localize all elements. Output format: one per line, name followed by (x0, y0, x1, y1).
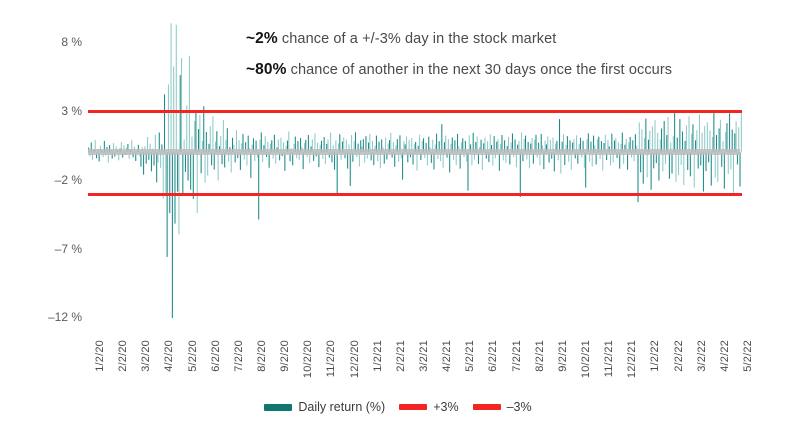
legend-label-upper-threshold: +3% (433, 400, 458, 414)
plot-area (88, 8, 742, 338)
y-axis-tick-label: –7 % (26, 242, 82, 256)
x-axis-tick-label: 12/2/21 (626, 340, 638, 378)
y-axis-tick-label: –2 % (26, 173, 82, 187)
x-axis-tick-label: 5/2/20 (187, 340, 199, 372)
x-axis-tick-label: 11/2/21 (603, 340, 615, 377)
legend-swatch-upper-threshold (399, 404, 427, 410)
chart-figure: ~2% chance of a +/-3% day in the stock m… (0, 0, 796, 430)
x-axis-tick-label: 1/2/20 (94, 340, 106, 372)
daily-return-bars (88, 8, 742, 338)
legend-swatch-daily-return (264, 404, 292, 411)
x-axis-tick-label: 7/2/20 (233, 340, 245, 372)
threshold-line-lower (88, 193, 742, 196)
legend-swatch-lower-threshold (473, 404, 501, 410)
x-axis-tick-label: 9/2/20 (279, 340, 291, 372)
x-axis-tick-label: 5/2/21 (464, 340, 476, 372)
legend-label-lower-threshold: –3% (507, 400, 532, 414)
x-axis-tick-label: 2/2/20 (117, 340, 129, 372)
x-axis-tick-label: 4/2/22 (719, 340, 731, 372)
x-axis-tick-label: 1/2/21 (372, 340, 384, 372)
x-axis-tick-label: 3/2/20 (140, 340, 152, 372)
x-axis-tick-label: 2/2/21 (395, 340, 407, 372)
y-axis-tick-label: 3 % (26, 104, 82, 118)
x-axis-tick-label: 1/2/22 (649, 340, 661, 372)
x-axis-tick-label: 6/2/20 (210, 340, 222, 372)
y-axis: 8 %3 %–2 %–7 %–12 % (22, 0, 82, 430)
x-axis-tick-label: 8/2/20 (256, 340, 268, 372)
x-axis-tick-label: 4/2/21 (441, 340, 453, 372)
chart-legend: Daily return (%) +3% –3% (0, 400, 796, 414)
x-axis-tick-label: 10/2/21 (580, 340, 592, 378)
x-axis-tick-label: 9/2/21 (557, 340, 569, 372)
x-axis-tick-label: 5/2/22 (742, 340, 754, 372)
legend-item-lower-threshold[interactable]: –3% (473, 400, 532, 414)
legend-label-daily-return: Daily return (%) (298, 400, 385, 414)
x-axis-tick-label: 12/2/20 (349, 340, 361, 378)
zero-baseline (88, 149, 740, 155)
x-axis-tick-label: 11/2/20 (325, 340, 337, 377)
x-axis-tick-label: 8/2/21 (534, 340, 546, 372)
y-axis-tick-label: 8 % (26, 35, 82, 49)
x-axis-tick-label: 6/2/21 (487, 340, 499, 372)
legend-item-daily-return[interactable]: Daily return (%) (264, 400, 385, 414)
x-axis-tick-label: 3/2/22 (696, 340, 708, 372)
x-axis-tick-label: 4/2/20 (163, 340, 175, 372)
threshold-line-upper (88, 110, 742, 113)
x-axis-tick-label: 3/2/21 (418, 340, 430, 372)
x-axis-tick-label: 7/2/21 (511, 340, 523, 372)
x-axis-tick-label: 10/2/20 (302, 340, 314, 378)
y-axis-tick-label: –12 % (26, 310, 82, 324)
legend-item-upper-threshold[interactable]: +3% (399, 400, 458, 414)
x-axis: 1/2/202/2/203/2/204/2/205/2/206/2/207/2/… (88, 340, 748, 395)
x-axis-tick-label: 2/2/22 (673, 340, 685, 372)
